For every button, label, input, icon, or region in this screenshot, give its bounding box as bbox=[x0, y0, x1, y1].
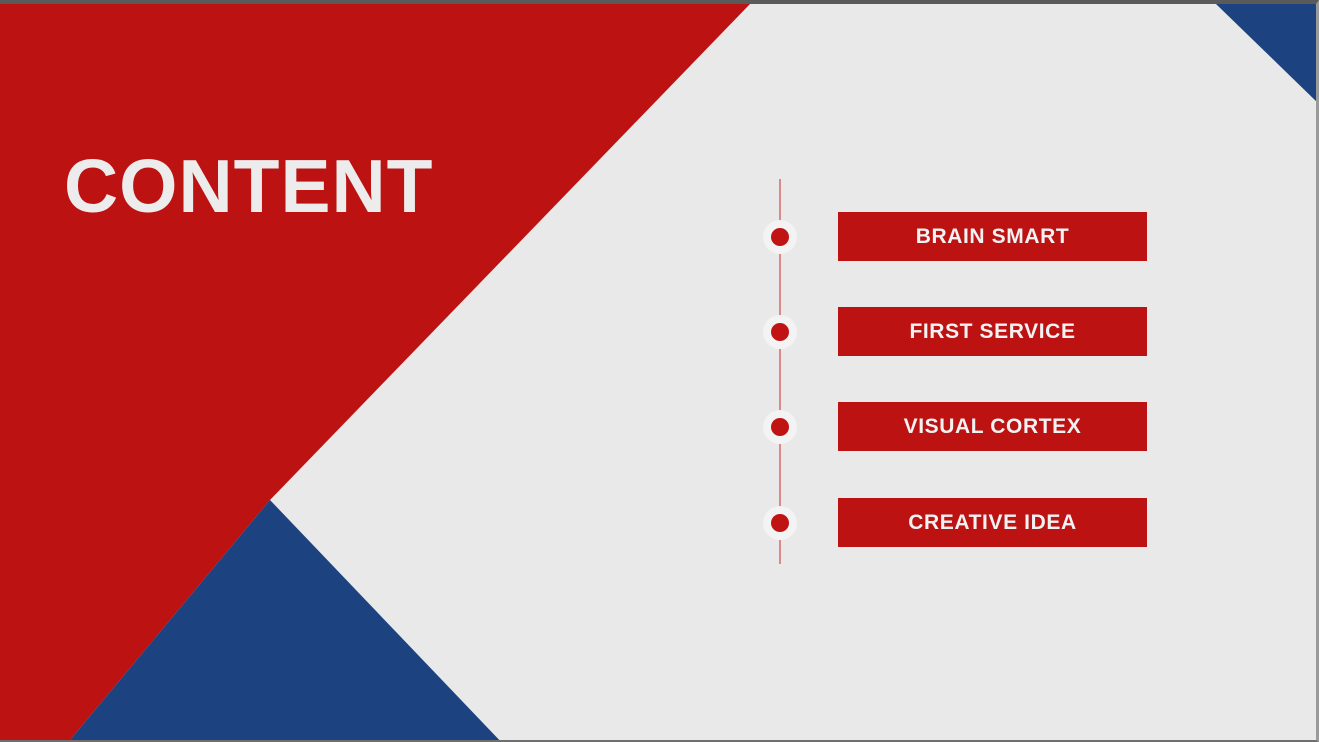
bullet-dot-icon bbox=[771, 514, 789, 532]
content-timeline: BRAIN SMART FIRST SERVICE VISUAL CORTEX bbox=[757, 172, 1157, 572]
timeline-marker bbox=[757, 214, 803, 260]
timeline-item-label: FIRST SERVICE bbox=[909, 320, 1075, 344]
timeline-item-button-4[interactable]: CREATIVE IDEA bbox=[838, 498, 1147, 547]
timeline-item-label: VISUAL CORTEX bbox=[904, 415, 1082, 439]
timeline-item-button-2[interactable]: FIRST SERVICE bbox=[838, 307, 1147, 356]
presentation-slide: CONTENT BRAIN SMART FIRST SERVICE bbox=[0, 0, 1319, 742]
navy-bottom-triangle bbox=[65, 500, 505, 742]
timeline-item-label: CREATIVE IDEA bbox=[908, 511, 1076, 535]
list-item[interactable]: CREATIVE IDEA bbox=[757, 498, 1157, 547]
list-item[interactable]: VISUAL CORTEX bbox=[757, 402, 1157, 451]
timeline-item-button-3[interactable]: VISUAL CORTEX bbox=[838, 402, 1147, 451]
bullet-dot-icon bbox=[771, 323, 789, 341]
list-item[interactable]: BRAIN SMART bbox=[757, 212, 1157, 261]
timeline-item-label: BRAIN SMART bbox=[916, 225, 1070, 249]
timeline-item-button-1[interactable]: BRAIN SMART bbox=[838, 212, 1147, 261]
timeline-marker bbox=[757, 500, 803, 546]
bullet-dot-icon bbox=[771, 418, 789, 436]
timeline-marker bbox=[757, 309, 803, 355]
red-angled-shape bbox=[0, 4, 750, 742]
bullet-dot-icon bbox=[771, 228, 789, 246]
navy-corner-triangle bbox=[1216, 4, 1319, 104]
page-title: CONTENT bbox=[64, 145, 433, 228]
list-item[interactable]: FIRST SERVICE bbox=[757, 307, 1157, 356]
timeline-marker bbox=[757, 404, 803, 450]
